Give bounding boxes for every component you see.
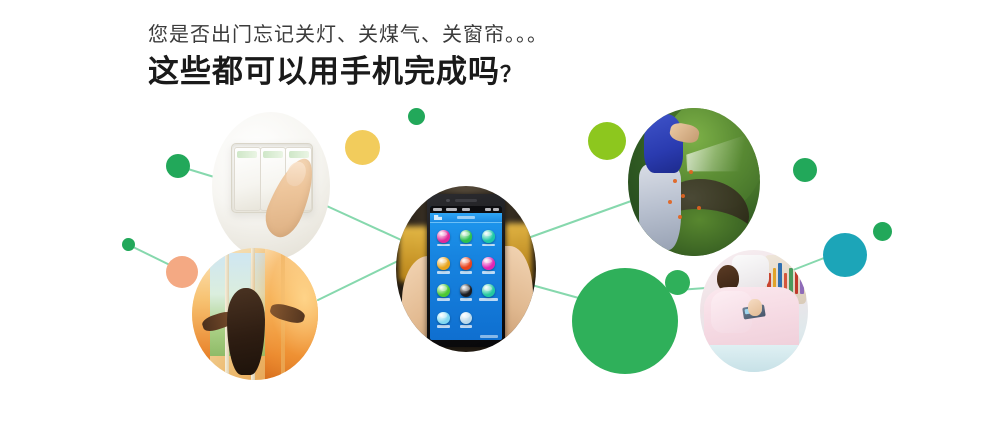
app-icon-11-label	[460, 325, 472, 327]
link-phone-to-garden	[528, 200, 634, 238]
app-icon-12[interactable]	[478, 307, 499, 333]
app-icon-1-glyph	[437, 230, 449, 242]
app-icon-10[interactable]	[433, 307, 454, 333]
phone-body	[427, 194, 505, 347]
app-icon-5[interactable]	[455, 252, 476, 278]
curtain-left	[192, 248, 210, 380]
app-icon-7-label	[437, 298, 449, 300]
app-icon-6-glyph	[482, 257, 494, 269]
app-icon-6-label	[482, 271, 494, 273]
headline-title-row: 这些都可以用手机完成吗？	[148, 53, 748, 94]
switch-indicator-1	[237, 151, 257, 158]
headline-title: 这些都可以用手机完成吗	[148, 54, 500, 89]
front-camera-icon	[446, 199, 450, 202]
app-icon-3[interactable]	[478, 225, 499, 251]
switch-indicator-3	[289, 151, 309, 158]
app-icon-4-glyph	[437, 257, 449, 269]
dot-green-right-small	[873, 222, 892, 241]
bed-sheet	[700, 345, 808, 372]
switch-indicator-2	[263, 151, 283, 158]
dot-green-left-lower	[122, 238, 135, 251]
back-arrow-icon[interactable]	[434, 215, 443, 221]
app-icon-5-glyph	[460, 257, 472, 269]
app-icon-4[interactable]	[433, 252, 454, 278]
app-nav-bar[interactable]	[430, 213, 502, 223]
headline-subtitle: 您是否出门忘记关灯、关煤气、关窗帘。。。	[148, 22, 748, 48]
garden-fruit-5	[697, 206, 701, 210]
promo-banner: 您是否出门忘记关灯、关煤气、关窗帘。。。 这些都可以用手机完成吗？	[0, 0, 984, 434]
app-icon-8-label	[460, 298, 472, 300]
app-icon-1[interactable]	[433, 225, 454, 251]
app-icon-9[interactable]	[478, 279, 499, 305]
app-icon-5-label	[460, 271, 472, 273]
app-icon-9-glyph	[482, 284, 494, 296]
bed-photo-inner	[700, 250, 808, 372]
dot-teal-right	[823, 233, 867, 277]
person-in-bed-with-remote-photo	[700, 250, 808, 372]
app-icon-8[interactable]	[455, 279, 476, 305]
garden-photo-inner	[628, 108, 760, 256]
person-hand	[748, 299, 762, 316]
curtain-photo-inner	[192, 248, 318, 380]
dot-green-near-bed	[665, 270, 690, 295]
app-icon-11-glyph	[460, 312, 472, 324]
dot-green-left-upper	[166, 154, 190, 178]
switch-photo-inner	[212, 112, 330, 260]
hand-holding-smartphone-photo	[396, 186, 536, 352]
dot-lime-top-right	[588, 122, 626, 160]
app-icon-7-glyph	[437, 284, 449, 296]
app-icon-1-label	[437, 244, 449, 246]
dot-big-green-center	[572, 268, 678, 374]
watering-garden-photo	[628, 108, 760, 256]
app-icon-8-glyph	[460, 284, 472, 296]
nav-title	[457, 216, 474, 220]
app-icon-2[interactable]	[455, 225, 476, 251]
app-icon-9-label	[479, 298, 497, 300]
earpiece-speaker	[455, 199, 477, 201]
headline-question-mark: ？	[500, 62, 523, 87]
app-icon-6[interactable]	[478, 252, 499, 278]
status-bar	[430, 206, 502, 214]
app-icon-3-label	[482, 244, 494, 246]
woman-opening-curtain-photo	[192, 248, 318, 380]
woman-hair	[227, 288, 265, 375]
app-icon-10-label	[437, 325, 449, 327]
garden-fruit-3	[668, 200, 672, 204]
gardener-jeans	[639, 164, 681, 250]
book-7	[800, 273, 804, 294]
screen-footer-text	[480, 335, 499, 338]
app-icon-2-glyph	[460, 230, 472, 242]
switch-rocker-1	[234, 147, 261, 212]
dot-green-top-center	[408, 108, 425, 125]
app-icon-10-glyph	[437, 312, 449, 324]
headline-block: 您是否出门忘记关灯、关煤气、关窗帘。。。 这些都可以用手机完成吗？	[148, 22, 748, 94]
link-curtain-to-phone	[318, 258, 404, 300]
app-icon-11[interactable]	[455, 307, 476, 333]
app-icon-3-glyph	[482, 230, 494, 242]
app-icon-2-label	[460, 244, 472, 246]
phone-photo-inner	[396, 186, 536, 352]
dot-gold-top	[345, 130, 380, 165]
book-6	[795, 263, 799, 294]
app-icon-grid[interactable]	[433, 225, 499, 333]
app-icon-4-label	[437, 271, 449, 273]
phone-screen	[430, 206, 502, 340]
dot-green-right-upper	[793, 158, 817, 182]
wall-light-switch-photo	[212, 112, 330, 260]
app-icon-7[interactable]	[433, 279, 454, 305]
garden-fruit-2	[681, 194, 685, 198]
